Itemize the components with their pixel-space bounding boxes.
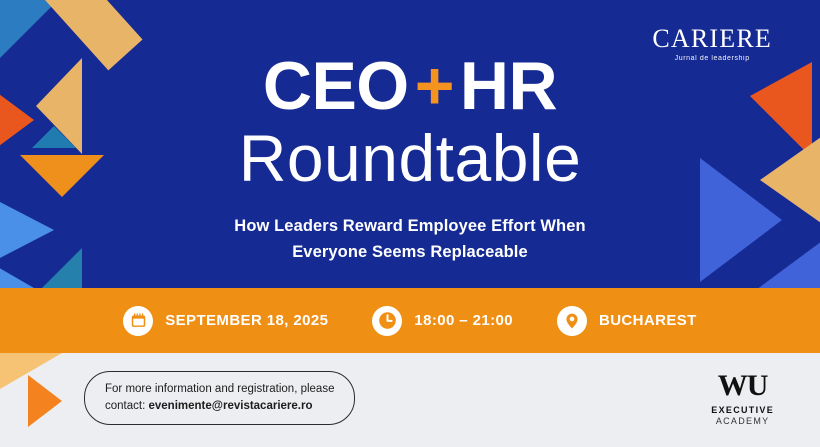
cariere-logo-name: CARIERE	[652, 26, 772, 52]
headline: CEO+HR	[263, 52, 557, 120]
contact-pill[interactable]: For more information and registration, p…	[84, 371, 355, 425]
event-location-text: BUCHAREST	[599, 312, 697, 329]
event-location: BUCHAREST	[557, 306, 697, 336]
wu-executive-academy-logo: WU EXECUTIVE ACADEMY	[711, 371, 774, 426]
contact-email[interactable]: evenimente@revistacariere.ro	[148, 400, 312, 412]
footer-section: For more information and registration, p…	[0, 353, 820, 447]
headline-row: CEO+HR	[0, 52, 820, 120]
contact-line2: contact: evenimente@revistacariere.ro	[105, 398, 334, 415]
headline-ceo: CEO	[263, 48, 409, 124]
wu-monogram: WU	[711, 371, 774, 401]
event-date: SEPTEMBER 18, 2025	[123, 306, 328, 336]
hero-section: CARIERE Jurnal de leadership CEO+HR Roun…	[0, 0, 820, 288]
clock-icon	[372, 306, 402, 336]
plus-icon: +	[409, 48, 460, 124]
location-pin-icon	[557, 306, 587, 336]
headline-hr: HR	[460, 48, 557, 124]
event-time-text: 18:00 – 21:00	[414, 312, 513, 329]
event-details-bar: SEPTEMBER 18, 2025 18:00 – 21:00 BUCHARE…	[0, 288, 820, 353]
contact-line1: For more information and registration, p…	[105, 381, 334, 398]
event-tagline: How Leaders Reward Employee Effort When …	[0, 214, 820, 265]
decor-arrow-orange-footer	[28, 375, 62, 427]
wu-line-executive: EXECUTIVE	[711, 406, 774, 415]
calendar-icon	[123, 306, 153, 336]
event-tagline-line1: How Leaders Reward Employee Effort When	[0, 214, 820, 240]
event-date-text: SEPTEMBER 18, 2025	[165, 312, 328, 329]
event-tagline-line2: Everyone Seems Replaceable	[0, 240, 820, 266]
event-banner: CARIERE Jurnal de leadership CEO+HR Roun…	[0, 0, 820, 447]
headline-subtitle: Roundtable	[0, 124, 820, 193]
wu-line-academy: ACADEMY	[711, 417, 774, 426]
decor-triangle-blue-topleft	[0, 0, 60, 60]
event-time: 18:00 – 21:00	[372, 306, 513, 336]
contact-prefix: contact:	[105, 400, 145, 412]
